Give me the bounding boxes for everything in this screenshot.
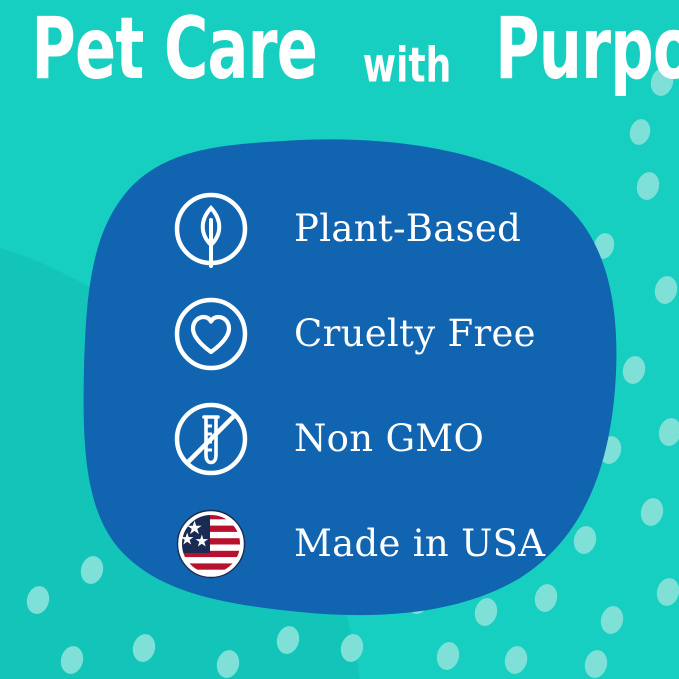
feature-label-cruelty-free: Cruelty Free	[294, 315, 536, 352]
headline-part2: Purpose	[495, 6, 679, 92]
feature-list: Plant-Based Cruelty Free	[172, 176, 592, 596]
no-gmo-icon	[172, 400, 250, 478]
feature-label-made-in-usa: Made in USA	[294, 525, 545, 562]
leaf-icon	[172, 190, 250, 268]
feature-row-non-gmo: Non GMO	[172, 386, 592, 491]
feature-row-cruelty-free: Cruelty Free	[172, 281, 592, 386]
heart-icon	[172, 295, 250, 373]
feature-label-non-gmo: Non GMO	[294, 420, 484, 457]
usa-flag-icon	[172, 505, 250, 583]
feature-row-made-in-usa: Made in USA	[172, 491, 592, 596]
promo-banner: Pet CarewithPurpose® Plant-Based	[0, 0, 679, 679]
page-title: Pet CarewithPurpose®	[0, 18, 679, 92]
headline-part1: Pet Care	[31, 6, 317, 92]
headline-connector: with	[359, 42, 454, 90]
feature-row-plant-based: Plant-Based	[172, 176, 592, 281]
feature-label-plant-based: Plant-Based	[294, 210, 521, 247]
